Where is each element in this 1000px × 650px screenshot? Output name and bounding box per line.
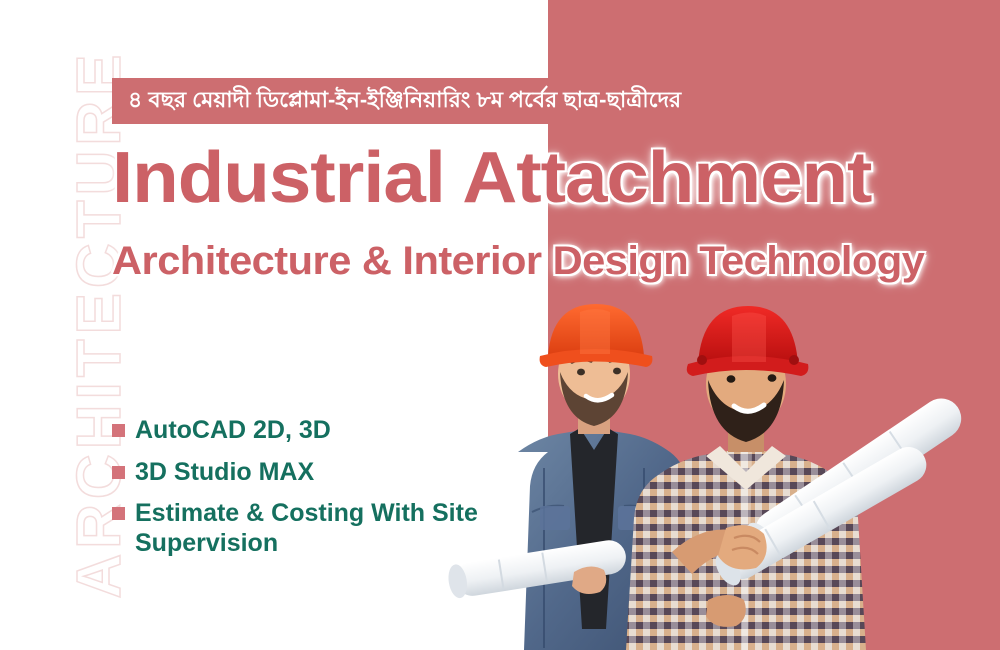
promo-banner: ARCHITECTURE ৪ বছর মেয়াদী ডিপ্লোমা-ইন-ই… (0, 0, 1000, 650)
engineers-photo (440, 300, 1000, 650)
feature-label: AutoCAD 2D, 3D (135, 416, 331, 446)
page-subtitle: Architecture & Interior Design Technolog… (112, 240, 924, 282)
feature-label: 3D Studio MAX (135, 458, 314, 488)
worker-right (626, 306, 969, 650)
page-title: Industrial Attachment (112, 142, 871, 215)
square-bullet-icon (112, 466, 125, 479)
bengali-eyebrow-text: ৪ বছর মেয়াদী ডিপ্লোমা-ইন-ইঞ্জিনিয়ারিং … (128, 83, 681, 120)
square-bullet-icon (112, 507, 125, 520)
bengali-eyebrow-bar: ৪ বছর মেয়াদী ডিপ্লোমা-ইন-ইঞ্জিনিয়ারিং … (112, 78, 852, 124)
square-bullet-icon (112, 424, 125, 437)
